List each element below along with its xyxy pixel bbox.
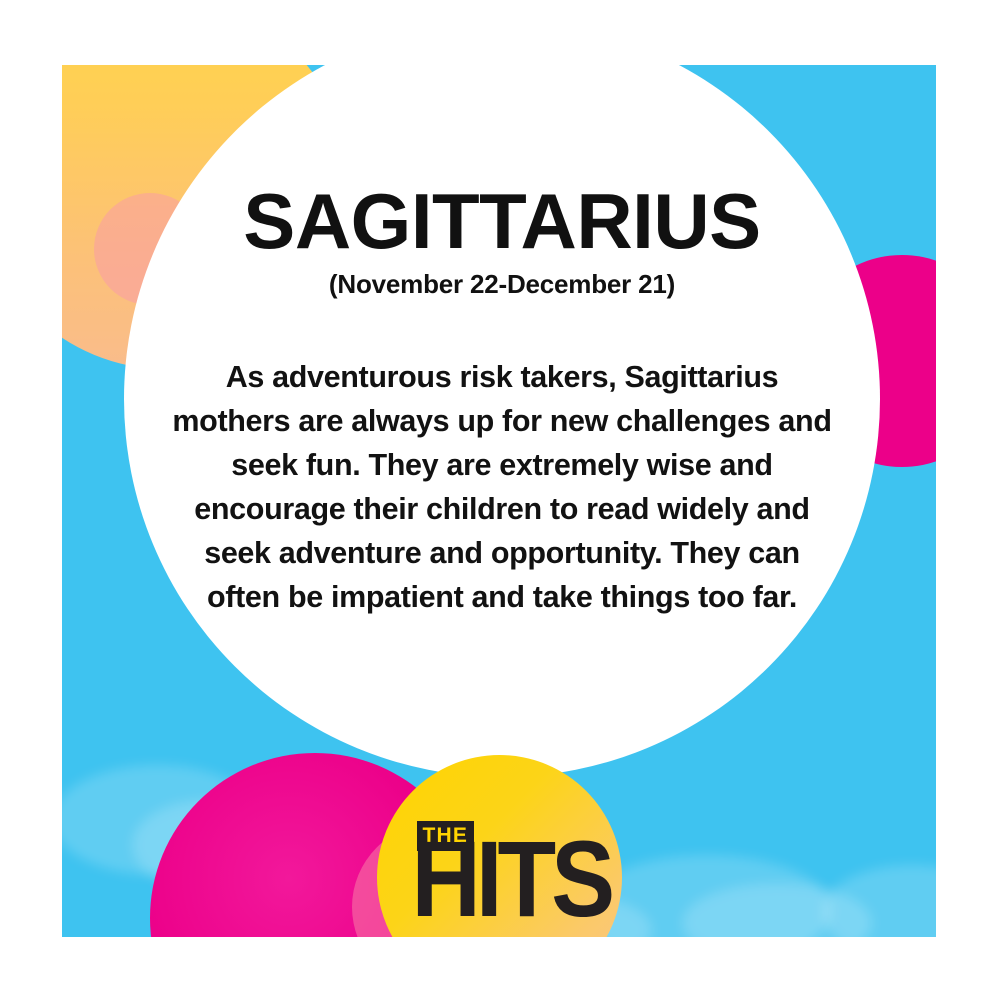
logo-hits-text: HITS [412,831,611,930]
screenshot-stage: SAGITTARIUS (November 22-December 21) As… [0,0,1000,1000]
cloud-shape [682,883,872,937]
zodiac-sign-title: SAGITTARIUS [124,65,880,259]
cloud-shape [822,865,936,937]
brand-logo-badge[interactable]: THE HITS [377,755,622,937]
logo-lockup: THE HITS [412,821,588,933]
horoscope-content: SAGITTARIUS (November 22-December 21) As… [124,65,880,620]
horoscope-card: SAGITTARIUS (November 22-December 21) As… [62,65,936,937]
zodiac-date-range: (November 22-December 21) [124,269,880,300]
horoscope-description: As adventurous risk takers, Sagittarius … [124,300,880,619]
